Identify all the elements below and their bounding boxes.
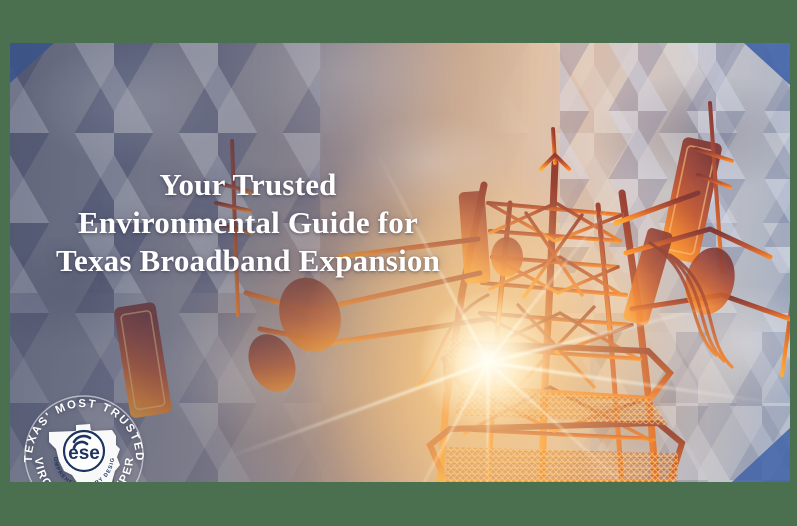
blue-accent-triangle-bottom-right (732, 428, 790, 482)
trust-seal-badge: TEXAS' MOST TRUSTED ENVIRONMENTAL EXPERT… (16, 387, 152, 482)
hero-photo-canvas: Your Trusted Environmental Guide for Tex… (10, 43, 790, 482)
ese-wordmark: ese (68, 443, 100, 464)
hero-banner: Your Trusted Environmental Guide for Tex… (0, 0, 797, 526)
ese-brand-mark: ese (62, 429, 106, 473)
blue-accent-triangle-top-left (10, 43, 54, 83)
triangle-facets-left (10, 43, 320, 293)
blue-accent-triangle-top-right (744, 43, 790, 85)
trust-seal-graphic: TEXAS' MOST TRUSTED ENVIRONMENTAL EXPERT… (16, 387, 152, 482)
